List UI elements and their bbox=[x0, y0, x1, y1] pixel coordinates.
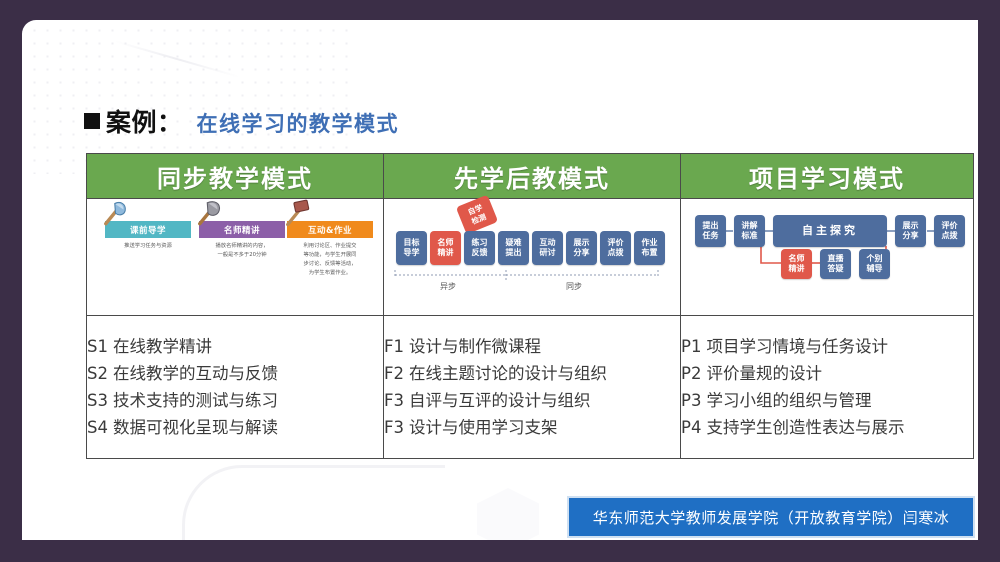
pipeline-block: 练习 反馈 bbox=[464, 231, 495, 265]
list-item: P1项目学习情境与任务设计 bbox=[681, 333, 973, 360]
list-item-tag: S3 bbox=[87, 391, 108, 410]
list-item-tag: P4 bbox=[681, 418, 701, 437]
list-item-tag: P2 bbox=[681, 364, 701, 383]
block-line1: 互动 bbox=[540, 238, 556, 249]
decorative-hexagon bbox=[477, 488, 539, 540]
list-item-text: 支持学生创造性表达与展示 bbox=[706, 418, 904, 437]
banner-desc-3: 利用讨论区、作业提交 等功能，与学生开展同 步讨论、反馈等活动， 为学生布置作业… bbox=[287, 242, 373, 278]
banner-group-3: 互动&作业 利用讨论区、作业提交 等功能，与学生开展同 步讨论、反馈等活动， 为… bbox=[287, 221, 373, 278]
table-text-row: S1在线教学精讲 S2在线教学的互动与反馈 S3技术支持的测试与练习 S4数据可… bbox=[87, 316, 974, 459]
list-item: F3自评与互评的设计与组织 bbox=[384, 387, 680, 414]
diagram-project-learning: 提出 任务 讲解 标准 自主探究 展示 分享 评价 bbox=[681, 199, 973, 315]
list-item-tag: F2 bbox=[384, 364, 404, 383]
list-item: S4数据可视化呈现与解读 bbox=[87, 414, 383, 441]
block-line1: 疑难 bbox=[506, 238, 522, 249]
decorative-corner-line bbox=[182, 465, 445, 540]
pipeline-block: 展示 分享 bbox=[566, 231, 597, 265]
list-item-tag: S4 bbox=[87, 418, 108, 437]
block-line1: 作业 bbox=[642, 238, 658, 249]
list-item-text: 在线教学的互动与反馈 bbox=[113, 364, 278, 383]
block-line2: 分享 bbox=[903, 231, 919, 242]
block-line1: 评价 bbox=[942, 221, 958, 232]
block-line2: 提出 bbox=[506, 248, 522, 259]
project-block-lecture: 名师 精讲 bbox=[781, 249, 812, 279]
list-item: S2在线教学的互动与反馈 bbox=[87, 360, 383, 387]
list-cell-sync: S1在线教学精讲 S2在线教学的互动与反馈 S3技术支持的测试与练习 S4数据可… bbox=[87, 316, 384, 459]
column-header-sync-label: 同步教学模式 bbox=[157, 165, 313, 193]
pipeline-blocks: 目标 导学 名师 精讲 练习 反馈 bbox=[396, 231, 665, 265]
pipeline-block: 名师 精讲 bbox=[430, 231, 461, 265]
column-header-flipped-label: 先学后教模式 bbox=[454, 165, 610, 193]
project-block-standard: 讲解 标准 bbox=[734, 215, 765, 247]
list-item-text: 设计与制作微课程 bbox=[409, 337, 541, 356]
block-line1: 名师 bbox=[438, 238, 454, 249]
diagram-cell-sync: 课前导学 推送学习任务与资源 名师精讲 bbox=[87, 199, 384, 316]
slide-canvas: 案例： 在线学习的教学模式 同步教学模式 先学后教模式 项目学习模式 bbox=[22, 20, 978, 540]
list-item-text: 设计与使用学习支架 bbox=[409, 418, 558, 437]
project-block-tutoring: 个别 辅导 bbox=[859, 249, 890, 279]
block-line2: 任务 bbox=[703, 231, 719, 242]
slide-root: 案例： 在线学习的教学模式 同步教学模式 先学后教模式 项目学习模式 bbox=[0, 0, 1000, 562]
list-item-tag: F1 bbox=[384, 337, 404, 356]
list-item: F1设计与制作微课程 bbox=[384, 333, 680, 360]
self-test-tag: 自学 检测 bbox=[456, 195, 498, 235]
pipeline-block: 目标 导学 bbox=[396, 231, 427, 265]
block-line1: 展示 bbox=[574, 238, 590, 249]
project-block-task: 提出 任务 bbox=[695, 215, 726, 247]
block-line1: 直播 bbox=[828, 254, 844, 265]
list-item-tag: P3 bbox=[681, 391, 701, 410]
block-line1: 提出 bbox=[703, 221, 719, 232]
footer-attribution-bar: 华东师范大学教师发展学院（开放教育学院）闫寒冰 bbox=[567, 496, 975, 538]
diagram-cell-flipped: 自学 检测 目标 导学 名师 精讲 bbox=[384, 199, 681, 316]
phase-label-async: 异步 bbox=[440, 281, 456, 292]
block-line2: 辅导 bbox=[867, 264, 883, 275]
list-item-text: 学习小组的组织与管理 bbox=[706, 391, 871, 410]
list-item-text: 数据可视化呈现与解读 bbox=[113, 418, 278, 437]
axe-icon-1 bbox=[99, 199, 129, 229]
list-item-tag: F3 bbox=[384, 391, 404, 410]
list-item-tag: F3 bbox=[384, 418, 404, 437]
title-subtitle-text: 在线学习的教学模式 bbox=[197, 108, 400, 138]
block-line2: 答疑 bbox=[828, 264, 844, 275]
list-cell-project: P1项目学习情境与任务设计 P2评价量规的设计 P3学习小组的组织与管理 P4支… bbox=[681, 316, 974, 459]
block-line2: 反馈 bbox=[472, 248, 488, 259]
block-line2: 标准 bbox=[742, 231, 758, 242]
list-item: F3设计与使用学习支架 bbox=[384, 414, 680, 441]
models-table: 同步教学模式 先学后教模式 项目学习模式 bbox=[86, 153, 974, 459]
list-item-text: 技术支持的测试与练习 bbox=[113, 391, 278, 410]
list-item-text: 项目学习情境与任务设计 bbox=[706, 337, 888, 356]
block-line2: 精讲 bbox=[438, 248, 454, 259]
list-item: P2评价量规的设计 bbox=[681, 360, 973, 387]
block-line1: 练习 bbox=[472, 238, 488, 249]
page-title: 案例： 在线学习的教学模式 bbox=[84, 103, 399, 139]
block-line2: 点拨 bbox=[942, 231, 958, 242]
block-line2: 布置 bbox=[642, 248, 658, 259]
pipeline-block: 互动 研讨 bbox=[532, 231, 563, 265]
block-line1: 目标 bbox=[404, 238, 420, 249]
pipeline-block: 疑难 提出 bbox=[498, 231, 529, 265]
column-header-sync: 同步教学模式 bbox=[87, 154, 384, 199]
decorative-dot-pattern bbox=[28, 24, 358, 174]
block-line1: 个别 bbox=[867, 254, 883, 265]
list-item-text: 评价量规的设计 bbox=[706, 364, 822, 383]
list-cell-flipped: F1设计与制作微课程 F2在线主题讨论的设计与组织 F3自评与互评的设计与组织 … bbox=[384, 316, 681, 459]
phase-bracket bbox=[394, 269, 660, 281]
diagram-cell-project: 提出 任务 讲解 标准 自主探究 展示 分享 评价 bbox=[681, 199, 974, 316]
project-block-share: 展示 分享 bbox=[895, 215, 926, 247]
banner-desc-1: 推送学习任务与资源 bbox=[105, 242, 191, 251]
table-diagram-row: 课前导学 推送学习任务与资源 名师精讲 bbox=[87, 199, 974, 316]
block-line2: 导学 bbox=[404, 248, 420, 259]
list-item-text: 在线教学精讲 bbox=[113, 337, 212, 356]
block-line1: 讲解 bbox=[742, 221, 758, 232]
decorative-streak bbox=[114, 40, 240, 78]
column-header-flipped: 先学后教模式 bbox=[384, 154, 681, 199]
list-item: P4支持学生创造性表达与展示 bbox=[681, 414, 973, 441]
list-item-tag: S1 bbox=[87, 337, 108, 356]
project-block-live-qa: 直播 答疑 bbox=[820, 249, 851, 279]
banner-group-1: 课前导学 推送学习任务与资源 bbox=[105, 221, 191, 251]
list-item: S3技术支持的测试与练习 bbox=[87, 387, 383, 414]
axe-icon-2 bbox=[193, 199, 223, 229]
phase-label-sync: 同步 bbox=[566, 281, 582, 292]
footer-attribution-text: 华东师范大学教师发展学院（开放教育学院）闫寒冰 bbox=[593, 507, 950, 528]
diagram-sync-teaching: 课前导学 推送学习任务与资源 名师精讲 bbox=[87, 199, 383, 315]
pipeline-block: 评价 点拨 bbox=[600, 231, 631, 265]
pipeline-block: 作业 布置 bbox=[634, 231, 665, 265]
list-item-tag: P1 bbox=[681, 337, 701, 356]
diagram-flipped-classroom: 自学 检测 目标 导学 名师 精讲 bbox=[384, 199, 680, 315]
block-line2: 精讲 bbox=[789, 264, 805, 275]
list-item: S1在线教学精讲 bbox=[87, 333, 383, 360]
column-header-project: 项目学习模式 bbox=[681, 154, 974, 199]
banner-desc-2: 播放名师精讲的内容， 一般是不多于20分钟 bbox=[199, 242, 285, 260]
hammer-icon-3 bbox=[281, 199, 311, 229]
block-line2: 点拨 bbox=[608, 248, 624, 259]
block-line2: 研讨 bbox=[540, 248, 556, 259]
project-block-inquiry: 自主探究 bbox=[773, 215, 887, 247]
table-header-row: 同步教学模式 先学后教模式 项目学习模式 bbox=[87, 154, 974, 199]
block-line1: 展示 bbox=[903, 221, 919, 232]
project-block-evaluate: 评价 点拨 bbox=[934, 215, 965, 247]
bullet-square-icon bbox=[84, 113, 100, 129]
list-item-text: 自评与互评的设计与组织 bbox=[409, 391, 591, 410]
list-item: F2在线主题讨论的设计与组织 bbox=[384, 360, 680, 387]
list-item-text: 在线主题讨论的设计与组织 bbox=[409, 364, 607, 383]
block-line2: 分享 bbox=[574, 248, 590, 259]
title-main-text: 案例： bbox=[106, 103, 183, 139]
block-line1: 评价 bbox=[608, 238, 624, 249]
banner-group-2: 名师精讲 播放名师精讲的内容， 一般是不多于20分钟 bbox=[199, 221, 285, 260]
list-item-tag: S2 bbox=[87, 364, 108, 383]
column-header-project-label: 项目学习模式 bbox=[749, 165, 905, 193]
block-line1: 名师 bbox=[789, 254, 805, 265]
list-item: P3学习小组的组织与管理 bbox=[681, 387, 973, 414]
